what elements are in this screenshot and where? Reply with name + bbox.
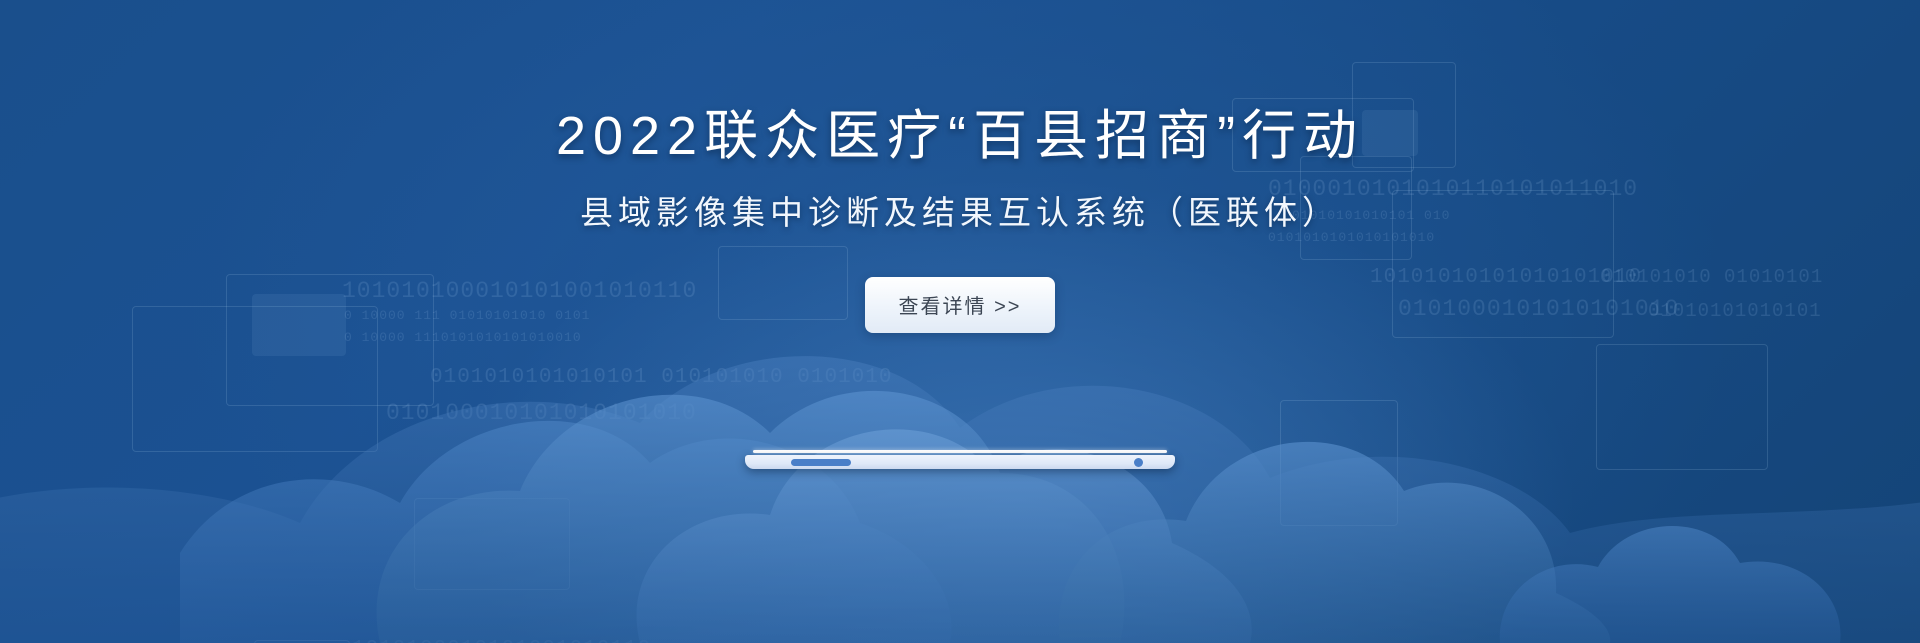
promo-banner: 101010100010101001010110 0 10000 111 010… [0, 0, 1920, 643]
banner-title: 2022联众医疗“百县招商”行动 [0, 104, 1920, 170]
laptop-lid-edge [753, 450, 1167, 453]
laptop-indicator-dot [1134, 458, 1143, 467]
laptop-trackpad [791, 459, 851, 466]
banner-subtitle: 县域影像集中诊断及结果互认系统（医联体） [0, 192, 1920, 235]
banner-content: 2022联众医疗“百县招商”行动 县域影像集中诊断及结果互认系统（医联体） 查看… [0, 0, 1920, 333]
view-details-button[interactable]: 查看详情 >> [865, 277, 1056, 333]
cta-container: 查看详情 >> [0, 277, 1920, 333]
laptop-base-graphic [745, 450, 1175, 472]
